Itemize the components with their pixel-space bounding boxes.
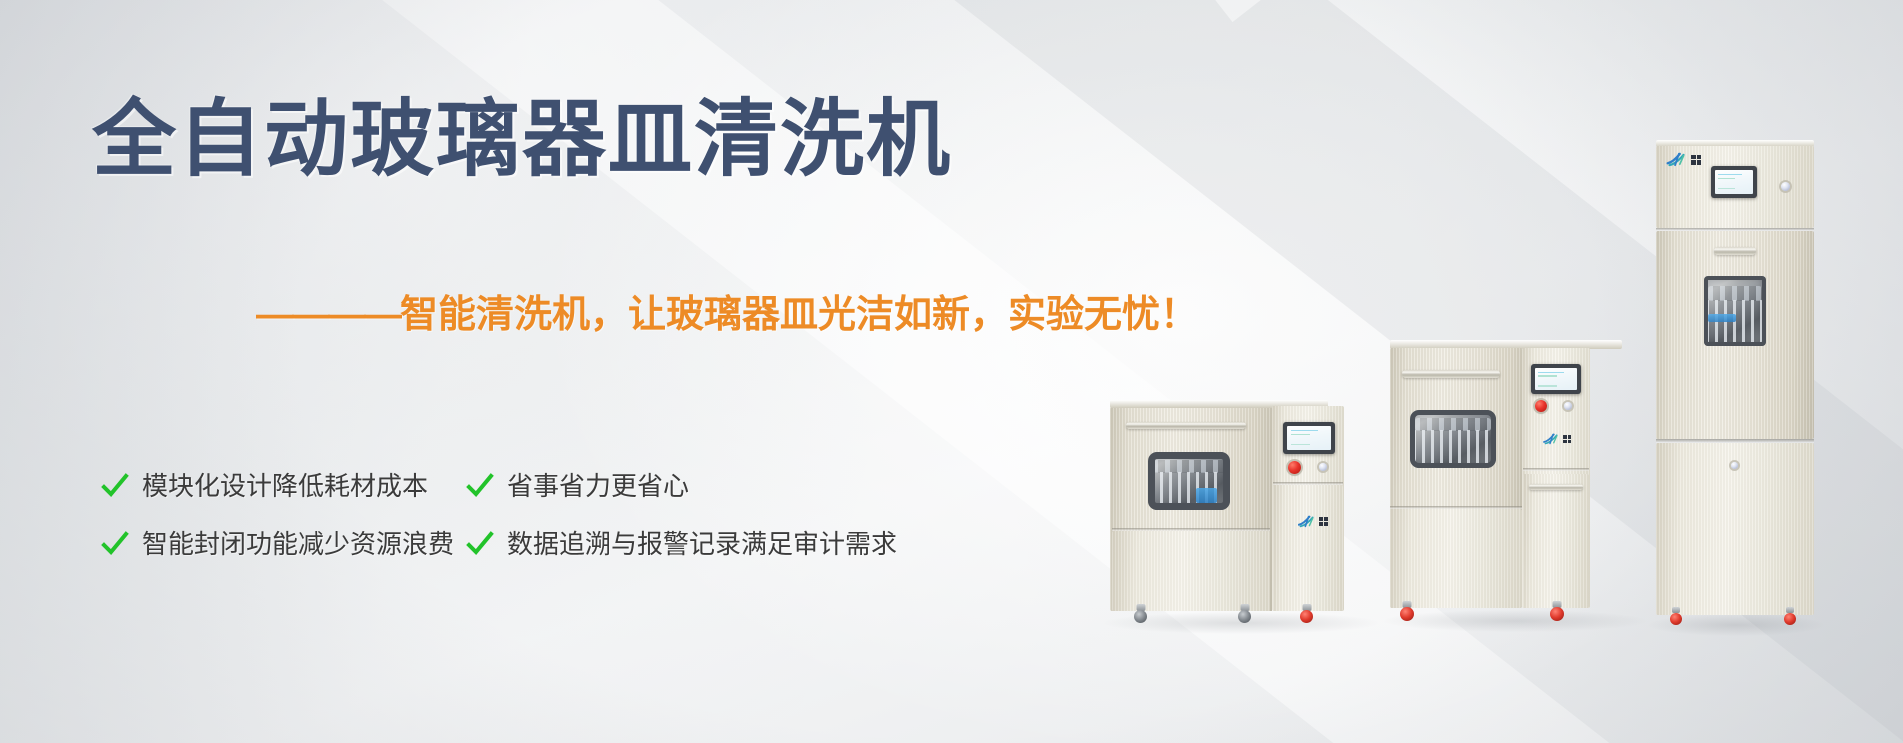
lower-drawer: [1112, 531, 1270, 611]
viewing-window: [1148, 452, 1230, 510]
caster-wheel: [1400, 607, 1414, 621]
power-button[interactable]: [1319, 463, 1327, 471]
caster-wheel: [1134, 610, 1147, 623]
service-door: [1523, 474, 1589, 608]
brand-squares-icon: [1319, 517, 1328, 526]
window-frame: [1148, 452, 1230, 510]
caster-wheel: [1300, 610, 1313, 623]
door-handle[interactable]: [1402, 370, 1500, 378]
window-frame: [1410, 410, 1496, 468]
product-shadow: [1384, 610, 1646, 632]
lcd-screen: [1715, 170, 1753, 194]
door-handle[interactable]: [1714, 247, 1756, 255]
brand-squares-icon: [1563, 435, 1571, 443]
caster-wheel: [1238, 610, 1251, 623]
service-panel: [1273, 485, 1343, 611]
caster-wheel: [1670, 613, 1682, 625]
brand-logo: [1666, 152, 1701, 167]
touchscreen-display[interactable]: [1711, 166, 1757, 198]
brand-squares-icon: [1691, 155, 1701, 165]
touchscreen-display[interactable]: [1283, 422, 1335, 454]
product-tall-column-glassware-washer: [1656, 140, 1816, 625]
power-button[interactable]: [1564, 402, 1572, 410]
brand-swoosh-icon: [1298, 515, 1316, 528]
service-door-handle[interactable]: [1529, 484, 1583, 490]
product-freestanding-glassware-washer: [1390, 338, 1640, 623]
lcd-screen: [1535, 368, 1577, 390]
banner-stage: 全自动玻璃器皿清洗机 ————智能清洗机，让玻璃器皿光洁如新，实验无忧！ 模块化…: [0, 0, 1903, 743]
caster-wheel: [1784, 613, 1796, 625]
emergency-stop-button[interactable]: [1288, 461, 1301, 474]
caster-wheel: [1550, 607, 1564, 621]
viewing-window: [1410, 410, 1496, 468]
emergency-stop-button[interactable]: [1535, 400, 1547, 412]
power-button[interactable]: [1781, 182, 1790, 191]
panel-seam: [1523, 468, 1589, 471]
touchscreen-display[interactable]: [1531, 364, 1581, 394]
window-frame: [1704, 276, 1766, 346]
brand-logo: [1543, 433, 1571, 445]
brand-logo: [1298, 515, 1328, 528]
lcd-screen: [1287, 426, 1331, 450]
door-handle[interactable]: [1126, 422, 1246, 429]
lower-drawer: [1390, 509, 1522, 608]
cabinet-latch[interactable]: [1731, 462, 1738, 469]
product-image-group: [0, 0, 1903, 743]
viewing-window: [1704, 276, 1766, 346]
brand-swoosh-icon: [1666, 152, 1688, 167]
product-undercounter-glassware-washer: [1110, 398, 1372, 623]
brand-swoosh-icon: [1543, 433, 1560, 445]
